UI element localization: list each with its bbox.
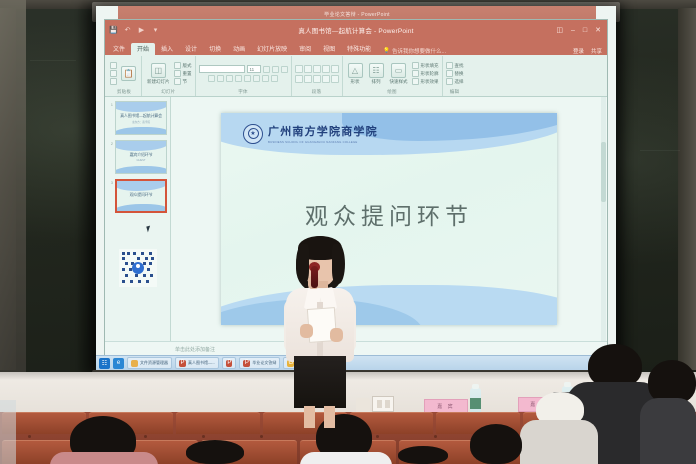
shapes-button[interactable]: △ 形状 xyxy=(346,63,365,85)
thumbnail-row[interactable]: 3 观众提问环节 xyxy=(108,179,167,213)
edge-icon[interactable]: e xyxy=(113,358,124,369)
cut-button[interactable] xyxy=(110,62,117,69)
save-icon[interactable]: 💾 xyxy=(109,26,118,35)
reset-icon xyxy=(174,70,181,77)
university-crest-icon: ★ xyxy=(243,124,263,144)
thumb-wave-top xyxy=(115,179,167,191)
section-label: 节 xyxy=(183,79,188,85)
arrange-label: 排列 xyxy=(372,79,381,85)
shape-outline-label: 形状轮廓 xyxy=(421,71,439,77)
decrease-font-icon[interactable] xyxy=(272,66,279,73)
change-case-icon[interactable] xyxy=(262,75,269,82)
arrange-icon: ☷ xyxy=(369,63,384,78)
paste-button[interactable]: 📋 xyxy=(119,66,138,81)
account-actions: 登录 共享 xyxy=(573,47,607,55)
arrange-button[interactable]: ☷ 排列 xyxy=(367,63,386,85)
group-label-drawing: 绘图 xyxy=(387,89,396,96)
start-icon[interactable]: ☷ xyxy=(99,358,110,369)
reset-button[interactable]: 重置 xyxy=(174,70,192,77)
ribbon-group-slides: ◫ 新建幻灯片 版式 重置 节 幻灯片 xyxy=(141,56,195,96)
thumbnail-number: 2 xyxy=(108,140,113,146)
thumbnail-subtitle: GUEST xyxy=(116,159,166,162)
seat xyxy=(176,412,260,434)
search-icon xyxy=(446,62,453,69)
character-spacing-icon[interactable] xyxy=(253,75,260,82)
find-label: 查找 xyxy=(455,63,464,69)
mouse-cursor xyxy=(146,226,151,233)
scissors-icon xyxy=(110,62,117,69)
thumb-wave-bottom xyxy=(115,127,167,135)
undo-icon[interactable]: ↶ xyxy=(123,26,132,35)
slide-thumbnail-1[interactable]: 真人图书馆—起航计算会 主办方：商学院 xyxy=(115,101,167,135)
section-icon xyxy=(174,78,181,85)
fill-icon xyxy=(412,62,419,69)
justify-icon[interactable] xyxy=(322,75,330,83)
align-right-icon[interactable] xyxy=(313,75,321,83)
ribbon: 📋 剪贴板 ◫ 新建幻灯片 版式 xyxy=(105,55,607,97)
slide-thumbnail-panel[interactable]: 1 真人图书馆—起航计算会 主办方：商学院 2 xyxy=(105,97,171,341)
scrollbar-grip[interactable] xyxy=(601,142,606,202)
lightbulb-icon: 💡 xyxy=(383,48,390,54)
speaker-hand-right xyxy=(330,328,343,342)
format-painter-button[interactable] xyxy=(110,78,117,85)
ribbon-group-clipboard: 📋 剪贴板 xyxy=(107,56,141,96)
thumbnail-row[interactable]: 1 真人图书馆—起航计算会 主办方：商学院 xyxy=(108,101,167,135)
speaker-hair-right xyxy=(332,244,345,284)
copy-icon xyxy=(110,70,117,77)
group-label-font: 字体 xyxy=(238,89,247,96)
layout-label: 版式 xyxy=(183,63,192,69)
bottle-label xyxy=(470,398,481,409)
thumbnail-title: 观众提问环节 xyxy=(117,192,165,198)
taskbar-item-explorer[interactable]: 文件资源管理器 xyxy=(127,357,172,369)
university-name-block: 广州南方学院商学院 BUSINESS SCHOOL OF GUANGZHOU N… xyxy=(268,123,378,144)
thumb-wave-top xyxy=(115,101,167,112)
bottle-cap xyxy=(472,384,479,389)
quick-styles-label: 快速样式 xyxy=(390,79,408,85)
window-title: 真人图书馆—起航计算会 - PowerPoint xyxy=(105,25,607,35)
align-center-icon[interactable] xyxy=(304,75,312,83)
crest-inner: ★ xyxy=(248,128,259,139)
seat-rivet xyxy=(144,435,147,438)
tab-insert[interactable]: 插入 xyxy=(155,43,179,55)
start-slideshow-icon[interactable]: ▶ xyxy=(137,26,146,35)
reset-label: 重置 xyxy=(183,71,192,77)
paste-icon: 📋 xyxy=(121,66,136,81)
taskbar-label: 真人图书馆—... xyxy=(188,360,215,366)
shape-effects-label: 形状效果 xyxy=(421,79,439,85)
speaker-leg-right xyxy=(324,406,335,428)
quick-access-toolbar: 💾 ↶ ▶ ▾ xyxy=(105,26,160,35)
speaker-presenter xyxy=(272,236,368,416)
shape-fill-label: 形状填充 xyxy=(421,63,439,69)
thumbnail-subtitle: 主办方：商学院 xyxy=(116,120,166,124)
qr-code xyxy=(119,249,157,287)
taskbar-label: 文件资源管理器 xyxy=(140,360,168,366)
thumb-wave-top xyxy=(115,140,167,151)
speaker-skirt xyxy=(294,356,346,408)
ribbon-tab-bar: 文件 开始 插入 设计 切换 动画 幻灯片放映 审阅 视图 特殊功能 💡 告诉我… xyxy=(105,40,607,55)
select-button[interactable]: 选择 xyxy=(446,78,464,85)
share-button[interactable]: 共享 xyxy=(591,47,602,55)
tell-me-search[interactable]: 💡 告诉我你想要做什么... xyxy=(377,47,446,55)
tab-transitions[interactable]: 切换 xyxy=(203,43,227,55)
group-label-clipboard: 剪贴板 xyxy=(117,89,131,96)
numbering-icon[interactable] xyxy=(304,65,312,73)
columns-icon[interactable] xyxy=(331,75,339,83)
slide-thumbnail-3[interactable]: 观众提问环节 xyxy=(115,179,167,213)
line-spacing-icon[interactable] xyxy=(331,65,339,73)
shadow-icon[interactable] xyxy=(235,75,242,82)
seat-rivet xyxy=(260,435,263,438)
customize-icon[interactable]: ▾ xyxy=(151,26,160,35)
university-name-en: BUSINESS SCHOOL OF GUANGZHOU NANFANG COL… xyxy=(268,140,378,144)
microphone-icon xyxy=(311,266,318,288)
outlet-socket xyxy=(377,400,382,408)
audience-head xyxy=(398,446,448,464)
slide-header: ★ 广州南方学院商学院 BUSINESS SCHOOL OF GUANGZHOU… xyxy=(243,123,378,144)
seat-rivet xyxy=(434,435,437,438)
thumbnail-number: 3 xyxy=(108,179,113,185)
tab-slideshow[interactable]: 幻灯片放映 xyxy=(251,43,293,55)
underline-icon[interactable] xyxy=(226,75,233,82)
paintbrush-icon xyxy=(110,78,117,85)
wall-outlet xyxy=(372,396,394,412)
thumb-wave-bottom xyxy=(115,166,167,174)
effects-icon xyxy=(412,78,419,85)
speaker-leg-left xyxy=(304,406,315,428)
seat-rivet xyxy=(202,435,205,438)
bold-icon[interactable] xyxy=(208,75,215,82)
thumbnail-title: 嘉宾介绍环节 xyxy=(116,152,166,158)
tab-file[interactable]: 文件 xyxy=(107,43,131,55)
ribbon-group-font: 11 xyxy=(195,56,291,96)
group-label-slides: 幻灯片 xyxy=(161,89,175,96)
powerpoint-icon: P xyxy=(179,360,186,367)
powerpoint-icon: P xyxy=(243,360,250,367)
strikethrough-icon[interactable] xyxy=(244,75,251,82)
audience-body xyxy=(300,452,392,464)
font-color-icon[interactable] xyxy=(271,75,278,82)
select-icon xyxy=(446,78,453,85)
font-size-input[interactable]: 11 xyxy=(247,65,261,73)
find-button[interactable]: 查找 xyxy=(446,62,464,69)
sign-in-button[interactable]: 登录 xyxy=(573,47,584,55)
chalk-mark xyxy=(30,60,76,61)
blackboard-frame-right xyxy=(678,8,696,370)
decrease-indent-icon[interactable] xyxy=(313,65,321,73)
taskbar-item-powerpoint-1[interactable]: P 真人图书馆—... xyxy=(175,357,219,369)
titlebar: 💾 ↶ ▶ ▾ 真人图书馆—起航计算会 - PowerPoint ◫ – □ ✕ xyxy=(105,20,607,40)
quick-styles-icon: ▭ xyxy=(391,63,406,78)
replace-label: 替换 xyxy=(455,71,464,77)
slide-thumbnail-2[interactable]: 嘉宾介绍环节 GUEST xyxy=(115,140,167,174)
group-label-editing: 编辑 xyxy=(450,89,459,96)
audience-body xyxy=(640,398,696,464)
increase-indent-icon[interactable] xyxy=(322,65,330,73)
chalk-mark xyxy=(640,150,680,151)
clear-formatting-icon[interactable] xyxy=(281,66,288,73)
group-label-paragraph: 段落 xyxy=(312,89,321,96)
align-left-icon[interactable] xyxy=(295,75,303,83)
tab-special-features[interactable]: 特殊功能 xyxy=(341,43,377,55)
thumbnail-number: 1 xyxy=(108,101,113,107)
university-name-cn: 广州南方学院商学院 xyxy=(268,123,378,139)
taskbar-item-powerpoint-2[interactable]: P xyxy=(222,357,236,369)
shape-fill-button[interactable]: 形状填充 xyxy=(412,62,439,69)
audience-body xyxy=(520,420,598,464)
shapes-icon: △ xyxy=(348,63,363,78)
slide-title[interactable]: 观众提问环节 xyxy=(221,197,557,231)
ribbon-display-options-icon[interactable]: ◫ xyxy=(556,26,563,34)
audience-head xyxy=(186,440,244,464)
copy-button[interactable] xyxy=(110,70,117,77)
close-icon[interactable]: ✕ xyxy=(595,26,601,34)
layout-icon xyxy=(174,62,181,69)
new-slide-label: 新建幻灯片 xyxy=(147,79,170,85)
restore-icon[interactable]: □ xyxy=(583,27,587,34)
thumb-wave-bottom xyxy=(115,204,167,213)
tell-me-label: 告诉我你想要做什么... xyxy=(392,47,446,55)
outline-icon xyxy=(412,70,419,77)
ribbon-group-paragraph: 段落 xyxy=(291,56,342,96)
minimize-icon[interactable]: – xyxy=(571,27,575,34)
powerpoint-icon: P xyxy=(226,360,232,367)
tab-view[interactable]: 视图 xyxy=(317,43,341,55)
explorer-icon xyxy=(131,360,138,367)
ribbon-group-drawing: △ 形状 ☷ 排列 ▭ 快速样式 xyxy=(342,56,442,96)
thumbnail-row[interactable]: 2 嘉宾介绍环节 GUEST xyxy=(108,140,167,174)
replace-icon xyxy=(446,70,453,77)
italic-icon[interactable] xyxy=(217,75,224,82)
audience-body xyxy=(50,452,158,464)
thumbnail-title: 真人图书馆—起航计算会 xyxy=(116,113,166,119)
shapes-label: 形状 xyxy=(351,79,360,85)
replace-button[interactable]: 替换 xyxy=(446,70,464,77)
shape-effects-button[interactable]: 形状效果 xyxy=(412,78,439,85)
ribbon-group-editing: 查找 替换 选择 编辑 xyxy=(442,56,467,96)
new-slide-button[interactable]: ◫ 新建幻灯片 xyxy=(145,63,172,85)
slide-editing-stage[interactable]: ★ 广州南方学院商学院 BUSINESS SCHOOL OF GUANGZHOU… xyxy=(171,97,607,341)
tab-review[interactable]: 审阅 xyxy=(293,43,317,55)
tab-design[interactable]: 设计 xyxy=(179,43,203,55)
window-controls: ◫ – □ ✕ xyxy=(556,26,607,34)
foreground-object-left xyxy=(0,400,16,464)
background-window-title: 毕业论文答辩 - PowerPoint xyxy=(324,11,390,18)
select-label: 选择 xyxy=(455,79,464,85)
speaker-hand-left xyxy=(300,324,313,338)
speaker-hair-left xyxy=(296,244,309,284)
section-button[interactable]: 节 xyxy=(174,78,192,85)
increase-font-icon[interactable] xyxy=(263,66,270,73)
bullets-icon[interactable] xyxy=(295,65,303,73)
tab-animations[interactable]: 动画 xyxy=(227,43,251,55)
notes-placeholder: 单击此处添加备注 xyxy=(175,346,215,353)
slide-scrollbar[interactable] xyxy=(601,97,606,341)
seat-rivet xyxy=(376,435,379,438)
new-slide-icon: ◫ xyxy=(151,63,166,78)
quick-styles-button[interactable]: ▭ 快速样式 xyxy=(388,63,410,85)
outlet-socket xyxy=(385,400,390,408)
shape-outline-button[interactable]: 形状轮廓 xyxy=(412,70,439,77)
tab-home[interactable]: 开始 xyxy=(131,43,155,55)
seat-rivet xyxy=(28,435,31,438)
lecture-hall-scene: 毕业论文答辩 - PowerPoint 💾 ↶ ▶ ▾ 真人图书馆—起航计算会 … xyxy=(0,0,696,464)
audience-head xyxy=(470,424,522,464)
layout-button[interactable]: 版式 xyxy=(174,62,192,69)
side-wall-left xyxy=(0,0,26,372)
bottle-cap xyxy=(564,382,571,387)
font-name-input[interactable] xyxy=(199,65,245,73)
